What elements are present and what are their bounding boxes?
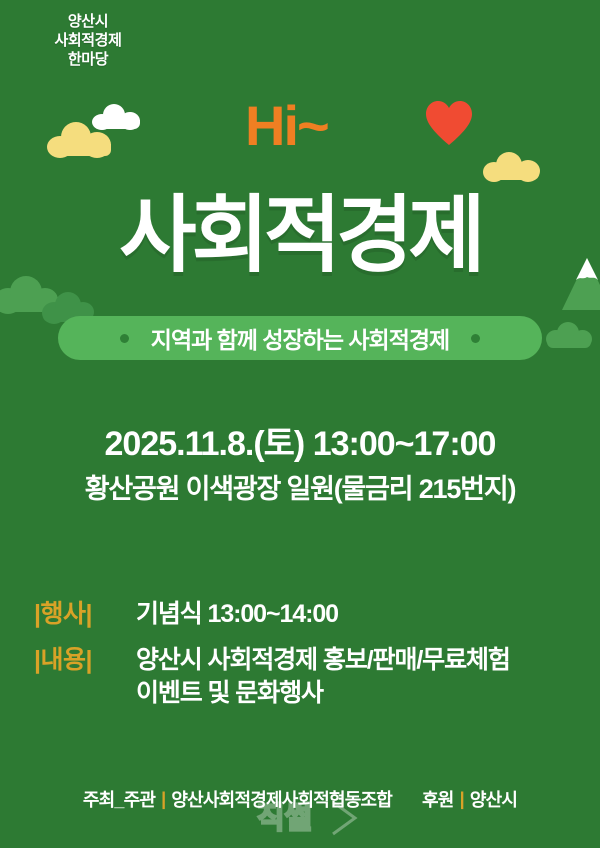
subtitle-pill: 지역과 함께 성장하는 사회적경제 (58, 316, 542, 360)
detail-value-content: 양산시 사회적경제 홍보/판매/무료체험 이벤트 및 문화행사 (136, 644, 574, 711)
pill-dot-left-icon (120, 334, 129, 343)
footer-divider-1: | (161, 789, 165, 810)
brand-title-line1: 양산시 (18, 12, 158, 31)
brand-title: 양산시 사회적경제 한마당 (18, 12, 158, 70)
footer-host-label: 주최_주관 (83, 786, 155, 812)
event-details: |행사| 기념식 13:00~14:00 |내용| 양산시 사회적경제 홍보/판… (34, 598, 574, 723)
detail-row: |행사| 기념식 13:00~14:00 (34, 598, 574, 632)
pill-dot-right-icon (471, 334, 480, 343)
bush-right-icon (546, 322, 592, 348)
subtitle-text: 지역과 함께 성장하는 사회적경제 (151, 321, 449, 355)
detail-value-program: 기념식 13:00~14:00 (136, 598, 574, 632)
white-cloud-icon (92, 104, 142, 128)
footer-sponsor-label: 후원 (422, 786, 454, 812)
yellow-cloud-left-icon (47, 122, 113, 156)
heart-icon (425, 100, 473, 146)
footer-sponsor-value: 양산시 (470, 786, 517, 812)
brand-title-line3: 한마당 (18, 50, 158, 69)
detail-label-content: |내용| (34, 644, 136, 677)
page-title: 사회적경제 (0, 193, 600, 277)
detail-label-program: |행사| (34, 598, 136, 631)
event-venue: 황산공원 이색광장 일원(물금리 215번지) (0, 473, 600, 507)
event-poster: 양산시 사회적경제 한마당 Hi~ 사회적경제 지역과 함께 성장하는 사회적경… (0, 0, 600, 848)
brand-title-line2: 사회적경제 (18, 31, 158, 50)
detail-value-program-line1: 기념식 13:00~14:00 (136, 600, 338, 628)
footer-divider-2: | (460, 789, 464, 810)
detail-row: |내용| 양산시 사회적경제 홍보/판매/무료체험 이벤트 및 문화행사 (34, 644, 574, 711)
detail-value-content-line1: 양산시 사회적경제 홍보/판매/무료체험 (136, 646, 510, 674)
event-date: 2025.11.8.(토) 13:00~17:00 (0, 424, 600, 465)
bush-left-large-icon (0, 276, 58, 312)
detail-value-content-line2: 이벤트 및 문화행사 (136, 677, 574, 711)
yellow-cloud-right-icon (483, 152, 541, 180)
watermark: 직썰 (255, 794, 365, 842)
hi-greeting-mark: Hi~ (245, 98, 328, 154)
event-datetime-block: 2025.11.8.(토) 13:00~17:00 황산공원 이색광장 일원(물… (0, 424, 600, 507)
svg-text:직썰: 직썰 (257, 802, 312, 835)
